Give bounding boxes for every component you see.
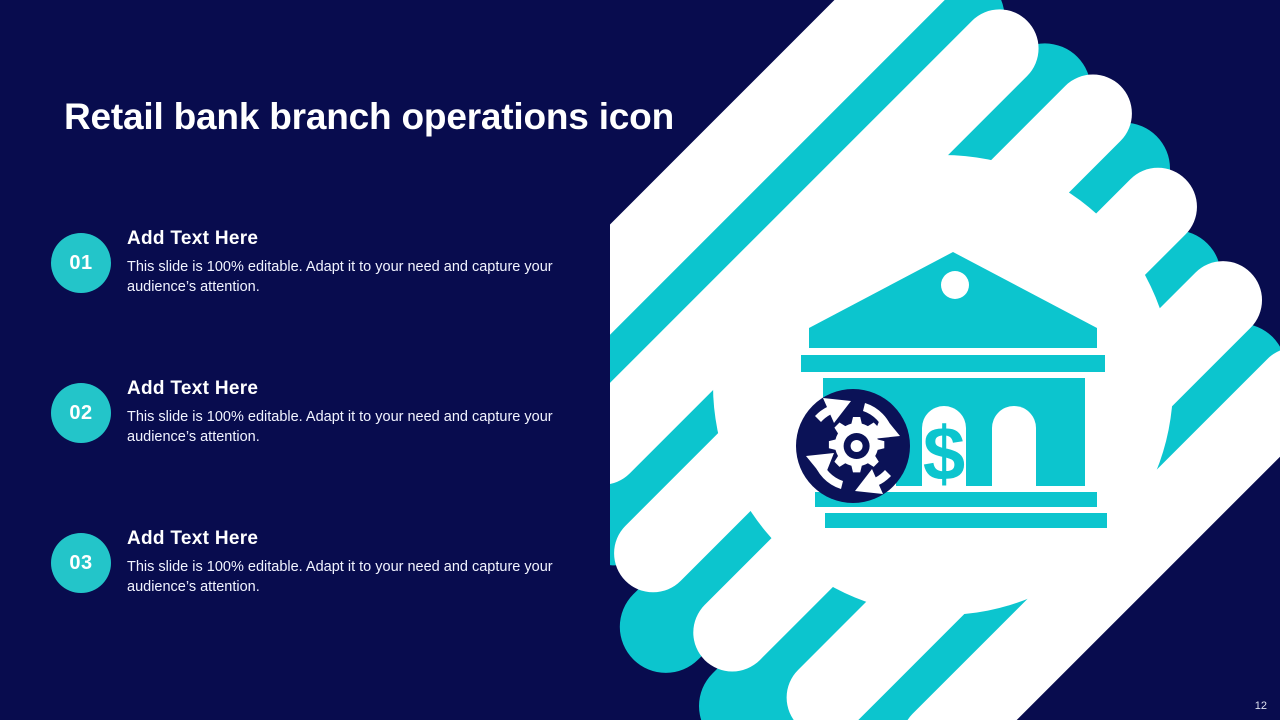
list-item[interactable]: 03 Add Text Here This slide is 100% edit… [51, 513, 611, 663]
bullet-list: 01 Add Text Here This slide is 100% edit… [51, 213, 611, 663]
page-number: 12 [1255, 700, 1267, 712]
bullet-number-badge: 01 [51, 233, 111, 293]
list-item[interactable]: 01 Add Text Here This slide is 100% edit… [51, 213, 611, 363]
svg-text:$: $ [923, 412, 965, 497]
bullet-heading: Add Text Here [127, 228, 607, 250]
bullet-number-badge: 03 [51, 533, 111, 593]
bullet-body: This slide is 100% editable. Adapt it to… [127, 557, 607, 597]
slide-root: $ [0, 0, 1280, 720]
dollar-sign-icon: $ [923, 412, 965, 497]
bullet-body: This slide is 100% editable. Adapt it to… [127, 257, 607, 297]
bullet-heading: Add Text Here [127, 378, 607, 400]
page-title: Retail bank branch operations icon [64, 96, 674, 138]
bullet-heading: Add Text Here [127, 528, 607, 550]
bullet-text-block: Add Text Here This slide is 100% editabl… [127, 228, 607, 297]
bullet-text-block: Add Text Here This slide is 100% editabl… [127, 528, 607, 597]
bullet-number-badge: 02 [51, 383, 111, 443]
operations-gear-badge [796, 389, 910, 503]
list-item[interactable]: 02 Add Text Here This slide is 100% edit… [51, 363, 611, 513]
gear-icon [829, 417, 884, 472]
bank-operations-graphic: $ [610, 0, 1280, 720]
bullet-text-block: Add Text Here This slide is 100% editabl… [127, 378, 607, 447]
bullet-body: This slide is 100% editable. Adapt it to… [127, 407, 607, 447]
